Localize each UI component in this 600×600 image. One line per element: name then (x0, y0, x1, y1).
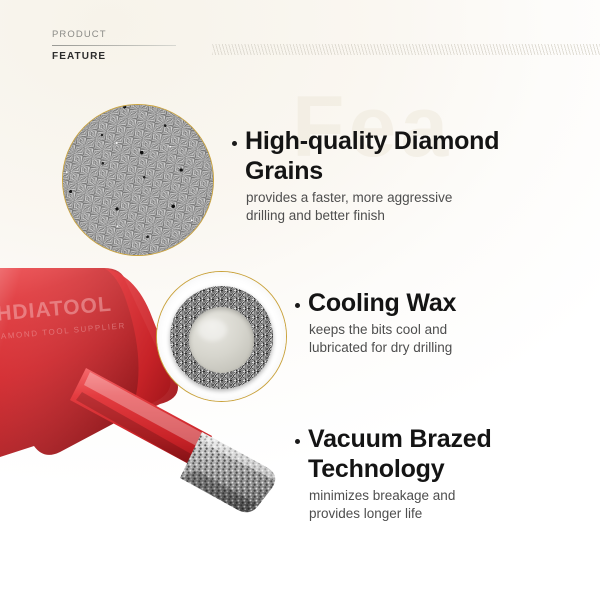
feature-subtext-line1: provides a faster, more aggressive (232, 189, 522, 207)
feature-headline: High-quality Diamond Grains (232, 126, 522, 186)
drill-bit-body: SHDIATOOL DIAMOND TOOL SUPPLIER (0, 268, 178, 470)
header-block: PRODUCT FEATURE (52, 28, 178, 64)
svg-text:DIAMOND TOOL SUPPLIER: DIAMOND TOOL SUPPLIER (0, 321, 126, 342)
feature-subtext-line1: keeps the bits cool and (295, 321, 555, 339)
feature-subtext-line2: lubricated for dry drilling (295, 339, 555, 357)
bullet-icon (295, 439, 300, 444)
bit-red-body-background (156, 271, 287, 336)
bullet-icon (295, 303, 300, 308)
bit-wax-core (189, 307, 255, 373)
inset-photo-cooling-wax (156, 271, 287, 402)
feature-block-3: Vacuum Brazed Technology minimizes break… (295, 424, 560, 523)
brand-logo-text: SHDIATOOL DIAMOND TOOL SUPPLIER (0, 293, 126, 342)
drill-bit-grit-tip (180, 432, 275, 512)
feature-headline: Cooling Wax (295, 288, 555, 318)
svg-text:SHDIATOOL: SHDIATOOL (0, 293, 113, 327)
inset-photo-diamond-grains (62, 104, 214, 256)
header-divider (52, 45, 176, 46)
bullet-icon (232, 141, 237, 146)
feature-headline: Vacuum Brazed Technology (295, 424, 560, 484)
product-feature-poster: Fea PRODUCT FEATURE (0, 0, 600, 600)
diamond-grit-macro-photo (62, 104, 214, 256)
bit-face-wax-core-photo (157, 272, 286, 401)
hatch-band-decoration (212, 44, 600, 55)
page-title: FEATURE (52, 50, 178, 64)
feature-subtext-line1: minimizes breakage and (295, 487, 560, 505)
header-kicker: PRODUCT (52, 28, 178, 42)
feature-block-1: High-quality Diamond Grains provides a f… (232, 126, 522, 225)
feature-subtext-line2: drilling and better finish (232, 207, 522, 225)
feature-subtext-line2: provides longer life (295, 505, 560, 523)
bit-grit-crown (170, 286, 273, 389)
feature-block-2: Cooling Wax keeps the bits cool and lubr… (295, 288, 555, 357)
